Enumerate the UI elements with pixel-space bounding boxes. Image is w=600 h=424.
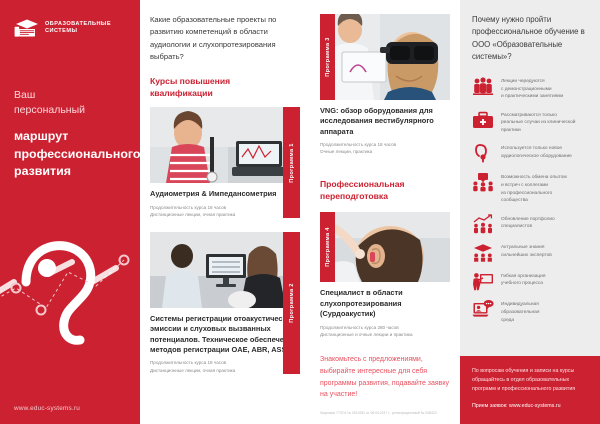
benefit-text: Рассматриваются только реальные случаи и… xyxy=(501,110,575,135)
accept-requests-label: Прием заявок: xyxy=(472,403,508,409)
license-legal-text: Лицензия 77ЛО1 № 0010281 от 06.04.2017 г… xyxy=(320,411,450,416)
benefit-text: Гибкая организация учебного процесса xyxy=(501,271,545,289)
benefits-list: Лекции чередуются с демонстрационными и … xyxy=(472,76,590,324)
contact-footer-panel: По вопросам обучения и записи на курсы о… xyxy=(460,356,600,424)
program-format-4: Дистанционные и очные лекции и практика xyxy=(320,331,450,338)
logo-line-1: ОБРАЗОВАТЕЛЬНЫЕ xyxy=(45,21,111,28)
program-card-4[interactable]: Программа 4 Специалист в области слухопр… xyxy=(320,212,450,337)
program-meta-1: Продолжительность курса 18 часов Дистанц… xyxy=(150,204,300,218)
left-panel-url[interactable]: www.educ-systems.ru xyxy=(14,405,80,412)
program-duration-2: Продолжительность курса 18 часов xyxy=(150,359,300,366)
section-title-retraining: Профессиональная переподготовка xyxy=(320,179,450,202)
brand-logo: ОБРАЗОВАТЕЛЬНЫЕ СИСТЕМЫ xyxy=(14,18,111,38)
medical-case-icon xyxy=(472,110,494,130)
girl-audiometry-photo xyxy=(150,107,300,183)
hearing-aid-fitting-photo xyxy=(320,212,450,282)
program-title-1: Аудиометрия & Импедансометрия xyxy=(150,189,300,199)
program-meta-2: Продолжительность курса 18 часов Дистанц… xyxy=(150,359,300,373)
logo-line-2: СИСТЕМЫ xyxy=(45,28,111,35)
flexible-schedule-icon xyxy=(472,271,494,291)
clinic-consultation-photo xyxy=(150,232,300,308)
benefit-text: Обновление портфолио специалистов xyxy=(501,214,555,232)
program-card-3[interactable]: Программа 3 VNG: обзор оборудования для … xyxy=(320,14,450,155)
program-format-1: Дистанционные лекции, очная практика xyxy=(150,211,300,218)
program-duration-4: Продолжительность курса 280 часов xyxy=(320,324,450,331)
program-tab-1: Программа 1 xyxy=(283,107,300,218)
individual-environment-icon xyxy=(472,299,494,319)
section-title-qualification: Курсы повышения квалификации xyxy=(150,76,300,99)
panel-kicker: Ваш персональный xyxy=(14,88,85,118)
vng-goggles-photo xyxy=(320,14,450,100)
program-meta-4: Продолжительность курса 280 часов Дистан… xyxy=(320,324,450,338)
accept-requests-link[interactable]: www.educ-systems.ru xyxy=(509,403,561,409)
benefit-item: Используется только новое аудиологическо… xyxy=(472,143,590,163)
program-tab-2: Программа 2 xyxy=(283,232,300,374)
benefit-item: Индивидуальная образовательная среда xyxy=(472,299,590,324)
program-card-2[interactable]: Программа 2 Системы регистрации отоакуст… xyxy=(150,232,300,374)
column-courses: Какие образовательные проекты по развити… xyxy=(140,0,310,424)
program-title-4: Специалист в области слухопротезирования… xyxy=(320,288,450,319)
program-tab-4: Программа 4 xyxy=(320,212,335,282)
benefit-item: Гибкая организация учебного процесса xyxy=(472,271,590,291)
column-benefits: Почему нужно пройти профессиональное обу… xyxy=(460,0,600,424)
program-title-3: VNG: обзор оборудования для исследования… xyxy=(320,106,450,137)
benefit-item: Лекции чередуются с демонстрационными и … xyxy=(472,76,590,101)
benefit-item: Обновление портфолио специалистов xyxy=(472,214,590,234)
ear-network-graphic xyxy=(0,224,140,374)
benefit-text: Возможность обмена опытом и встреч с кол… xyxy=(501,172,567,205)
intro-question: Какие образовательные проекты по развити… xyxy=(150,14,300,63)
graduation-cap-book-icon xyxy=(14,18,40,38)
program-format-2: Дистанционные лекции, очная практика xyxy=(150,367,300,374)
portfolio-growth-icon xyxy=(472,214,494,234)
lecture-audience-icon xyxy=(472,76,494,96)
benefits-title: Почему нужно пройти профессиональное обу… xyxy=(472,14,592,64)
panel-headline: маршрут профессионального развития xyxy=(14,128,134,181)
accept-requests-line: Прием заявок: www.educ-systems.ru xyxy=(472,403,588,409)
benefit-text: Лекции чередуются с демонстрационными и … xyxy=(501,76,563,101)
benefit-text: Актуальные знания сильнейших экспертов xyxy=(501,242,552,260)
program-meta-3: Продолжительность курса 18 часов Очные л… xyxy=(320,141,450,155)
benefit-item: Актуальные знания сильнейших экспертов xyxy=(472,242,590,262)
contact-footer-text: По вопросам обучения и записи на курсы о… xyxy=(472,367,588,394)
program-format-3: Очные лекции, практика xyxy=(320,148,450,155)
benefit-text: Индивидуальная образовательная среда xyxy=(501,299,539,324)
brochure-page: ОБРАЗОВАТЕЛЬНЫЕ СИСТЕМЫ Ваш персональный… xyxy=(0,0,600,424)
column-retraining: Программа 3 VNG: обзор оборудования для … xyxy=(310,0,460,424)
benefit-item: Рассматриваются только реальные случаи и… xyxy=(472,110,590,135)
program-duration-1: Продолжительность курса 18 часов xyxy=(150,204,300,211)
program-title-2: Системы регистрации отоакустической эмис… xyxy=(150,314,300,355)
program-tab-3: Программа 3 xyxy=(320,14,335,100)
program-card-1[interactable]: Программа 1 Аудиометрия & Импедансометри… xyxy=(150,107,300,218)
program-duration-3: Продолжительность курса 18 часов xyxy=(320,141,450,148)
benefit-text: Используется только новое аудиологическо… xyxy=(501,143,572,161)
community-exchange-icon xyxy=(472,172,494,192)
left-red-panel: ОБРАЗОВАТЕЛЬНЫЕ СИСТЕМЫ Ваш персональный… xyxy=(0,0,140,424)
hearing-device-icon xyxy=(472,143,494,163)
experts-knowledge-icon xyxy=(472,242,494,262)
call-to-action-text: Знакомьтесь с предложениями, выбирайте и… xyxy=(320,354,450,402)
benefit-item: Возможность обмена опытом и встреч с кол… xyxy=(472,172,590,205)
